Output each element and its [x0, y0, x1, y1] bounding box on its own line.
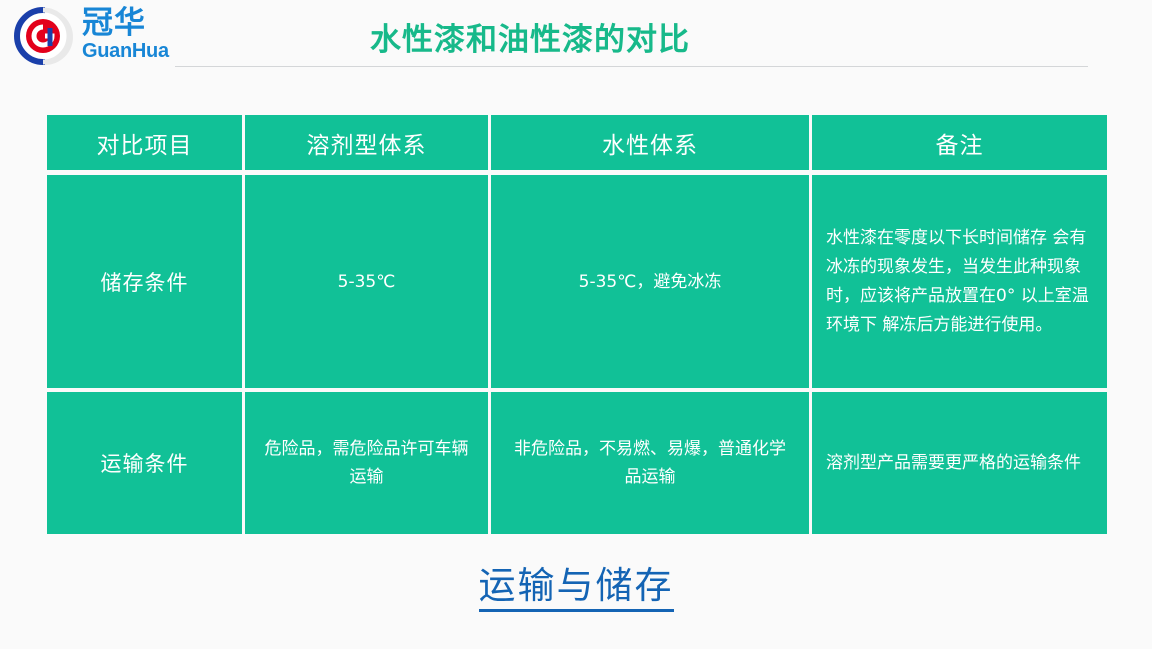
column-header-item: 对比项目 [47, 115, 245, 175]
row-1-remark: 水性漆在零度以下长时间储存 会有冰冻的现象发生，当发生此种现象时，应该将产品放置… [812, 175, 1107, 392]
row-2-solvent: 危险品，需危险品许可车辆运输 [245, 392, 491, 534]
slide-header: 冠华 GuanHua 水性漆和油性漆的对比 [0, 0, 1152, 96]
brand-name-en: GuanHua [82, 40, 192, 63]
column-header-solvent: 溶剂型体系 [245, 115, 491, 175]
footer-heading: 运输与储存 [0, 555, 1152, 609]
table-row: 运输条件 危险品，需危险品许可车辆运输 非危险品，不易燃、易爆，普通化学品运输 … [47, 392, 1107, 534]
table-header-row: 对比项目 溶剂型体系 水性体系 备注 [47, 115, 1107, 175]
brand-name-cn: 冠华 [82, 6, 192, 40]
page-title: 水性漆和油性漆的对比 [250, 14, 810, 59]
brand-wordmark: 冠华 GuanHua [82, 6, 192, 68]
row-2-waterborne: 非危险品，不易燃、易爆，普通化学品运输 [491, 392, 812, 534]
row-2-item: 运输条件 [47, 392, 245, 534]
header-divider [175, 66, 1088, 67]
comparison-table: 对比项目 溶剂型体系 水性体系 备注 储存条件 5-35℃ 5-35℃，避免冰冻… [47, 115, 1107, 534]
footer-heading-text: 运输与储存 [479, 564, 674, 612]
table-row: 储存条件 5-35℃ 5-35℃，避免冰冻 水性漆在零度以下长时间储存 会有冰冻… [47, 175, 1107, 392]
guanhua-circle-logo-icon [14, 6, 76, 68]
row-2-remark: 溶剂型产品需要更严格的运输条件 [812, 392, 1107, 534]
column-header-waterborne: 水性体系 [491, 115, 812, 175]
row-1-solvent: 5-35℃ [245, 175, 491, 392]
row-1-waterborne: 5-35℃，避免冰冻 [491, 175, 812, 392]
column-header-remark: 备注 [812, 115, 1107, 175]
brand-logo: 冠华 GuanHua [10, 4, 190, 70]
row-1-item: 储存条件 [47, 175, 245, 392]
